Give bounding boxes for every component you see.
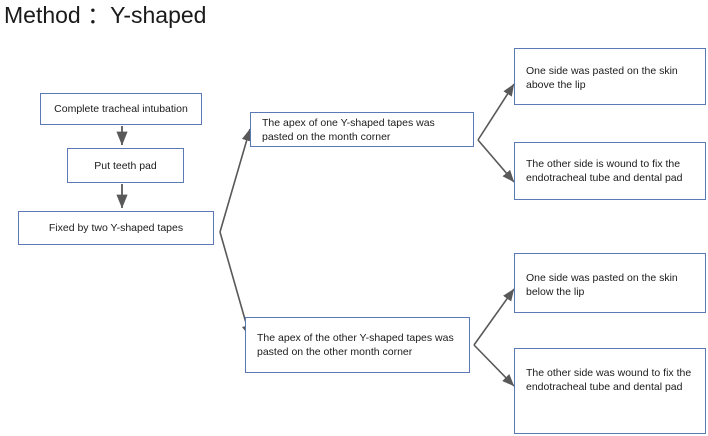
node-label: Fixed by two Y-shaped tapes [19, 221, 213, 235]
node-apex-other-y-shaped-tape[interactable]: The apex of the other Y-shaped tapes was… [245, 317, 470, 373]
edge-apexone-to-abovelip [478, 84, 514, 140]
node-other-side-wound-upper[interactable]: The other side is wound to fix the endot… [514, 142, 706, 200]
node-one-side-pasted-below-lip[interactable]: One side was pasted on the skin below th… [514, 253, 706, 313]
node-put-teeth-pad[interactable]: Put teeth pad [67, 148, 184, 183]
node-label: The other side was wound to fix the endo… [515, 349, 705, 394]
node-apex-one-y-shaped-tape[interactable]: The apex of one Y-shaped tapes was paste… [250, 112, 474, 147]
node-label: One side was pasted on the skin above th… [515, 61, 705, 92]
node-label: The other side is wound to fix the endot… [515, 157, 705, 185]
node-label: Complete tracheal intubation [41, 102, 201, 116]
node-fixed-by-two-y-shaped-tapes[interactable]: Fixed by two Y-shaped tapes [18, 211, 214, 245]
edge-apexother-to-woundlower [474, 345, 514, 386]
node-complete-tracheal-intubation[interactable]: Complete tracheal intubation [40, 93, 202, 125]
node-label: One side was pasted on the skin below th… [515, 268, 705, 299]
diagram-canvas: Method ：Y-shaped Complete tracheal intub… [0, 0, 708, 436]
node-one-side-pasted-above-lip[interactable]: One side was pasted on the skin above th… [514, 48, 706, 105]
node-label: The apex of the other Y-shaped tapes was… [246, 331, 469, 359]
page-title: Method ：Y-shaped [4, 0, 206, 30]
node-other-side-wound-lower[interactable]: The other side was wound to fix the endo… [514, 348, 706, 434]
edge-apexone-to-woundupper [478, 140, 514, 182]
node-label: Put teeth pad [68, 159, 183, 173]
edge-apexother-to-belowlip [474, 289, 514, 345]
node-label: The apex of one Y-shaped tapes was paste… [251, 116, 473, 144]
edge-fixed-to-apexone [220, 129, 250, 232]
